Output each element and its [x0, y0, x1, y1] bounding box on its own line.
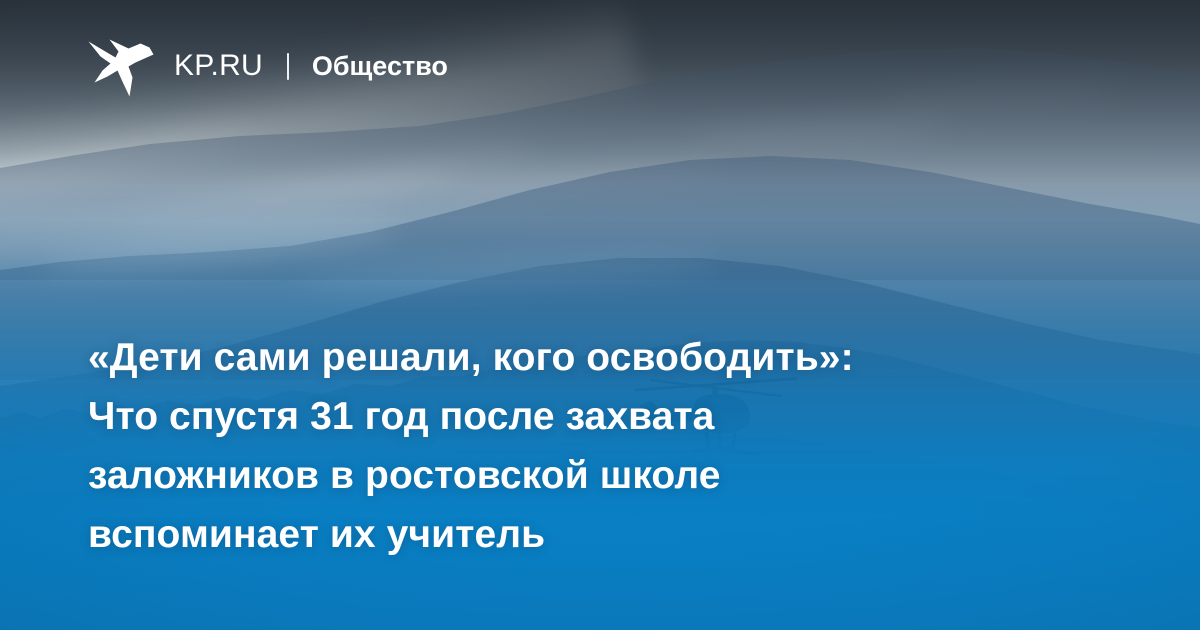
brand-wordmark[interactable]: KP.RU: [174, 51, 263, 81]
headline-line: вспоминает их учитель: [88, 505, 1088, 564]
headline-line: заложников в ростовской школе: [88, 446, 1088, 505]
rubric-label[interactable]: Общество: [312, 53, 448, 80]
swallow-bird-logo-icon: [88, 35, 154, 97]
headline: «Дети сами решали, кого освободить»: Что…: [88, 328, 1088, 564]
headline-line: «Дети сами решали, кого освободить»:: [88, 328, 1088, 387]
card-header: KP.RU Общество: [88, 38, 448, 94]
header-divider: [287, 53, 289, 80]
headline-line: Что спустя 31 год после захвата: [88, 387, 1088, 446]
social-share-card: KP.RU Общество «Дети сами решали, кого о…: [0, 0, 1200, 630]
